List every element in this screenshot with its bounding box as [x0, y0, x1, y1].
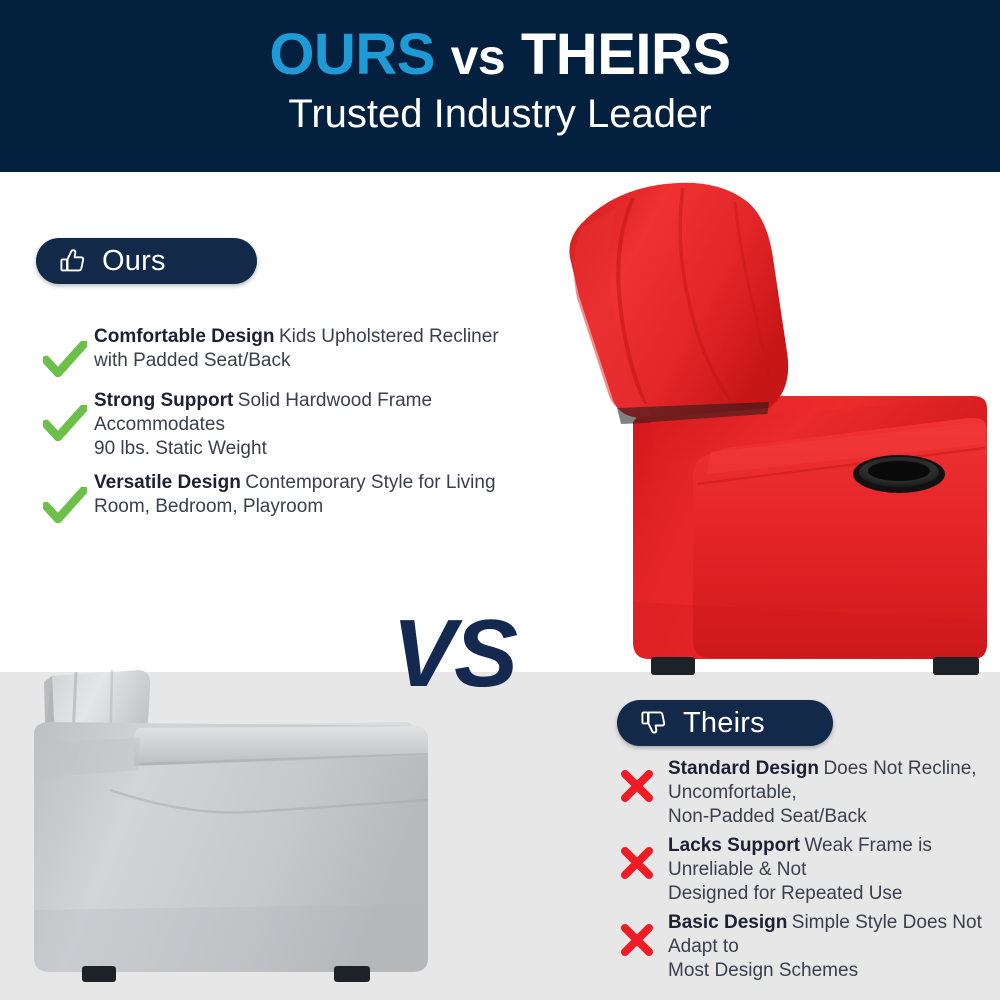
page-title: OURS vs THEIRS: [0, 26, 1000, 84]
cross-icon: [606, 911, 668, 957]
theirs-feature-item: Lacks Support Weak Frame is Unreliable &…: [606, 834, 1000, 906]
vs-divider-label: VS: [392, 606, 516, 702]
thumbs-down-icon: [639, 708, 669, 738]
comparison-infographic: OURS vs THEIRS Trusted Industry Leader: [0, 0, 1000, 1000]
feature-title: Basic Design: [668, 912, 787, 933]
ours-badge-label: Ours: [102, 247, 166, 276]
cross-icon: [606, 757, 668, 803]
ours-feature-item: Comfortable Design Kids Upholstered Recl…: [36, 325, 506, 379]
check-icon: [36, 389, 94, 443]
ours-feature-item: Versatile Design Contemporary Style for …: [36, 471, 506, 525]
ours-feature-item: Strong Support Solid Hardwood Frame Acco…: [36, 389, 506, 461]
feature-title: Versatile Design: [94, 472, 241, 493]
theirs-badge: Theirs: [617, 700, 833, 746]
feature-title: Comfortable Design: [94, 326, 275, 347]
theirs-feature-item: Basic Design Simple Style Does Not Adapt…: [606, 911, 1000, 983]
theirs-feature-item: Standard Design Does Not Recline, Uncomf…: [606, 757, 1000, 829]
theirs-feature-list: Standard Design Does Not Recline, Uncomf…: [606, 757, 1000, 987]
feature-title: Standard Design: [668, 758, 819, 779]
feature-title: Strong Support: [94, 390, 233, 411]
title-theirs-word: THEIRS: [521, 22, 731, 87]
ours-product-image: [555, 172, 1000, 677]
ours-badge: Ours: [36, 238, 257, 284]
cross-icon: [606, 834, 668, 880]
ours-feature-list: Comfortable Design Kids Upholstered Recl…: [36, 325, 506, 535]
feature-title: Lacks Support: [668, 835, 800, 856]
header-banner: OURS vs THEIRS Trusted Industry Leader: [0, 0, 1000, 172]
title-ours-word: OURS: [269, 22, 435, 87]
check-icon: [36, 325, 94, 379]
header-subtitle: Trusted Industry Leader: [0, 92, 1000, 136]
theirs-product-image: [0, 660, 450, 1000]
thumbs-up-icon: [58, 246, 88, 276]
theirs-badge-label: Theirs: [683, 709, 765, 738]
check-icon: [36, 471, 94, 525]
title-vs-word: vs: [451, 29, 506, 85]
